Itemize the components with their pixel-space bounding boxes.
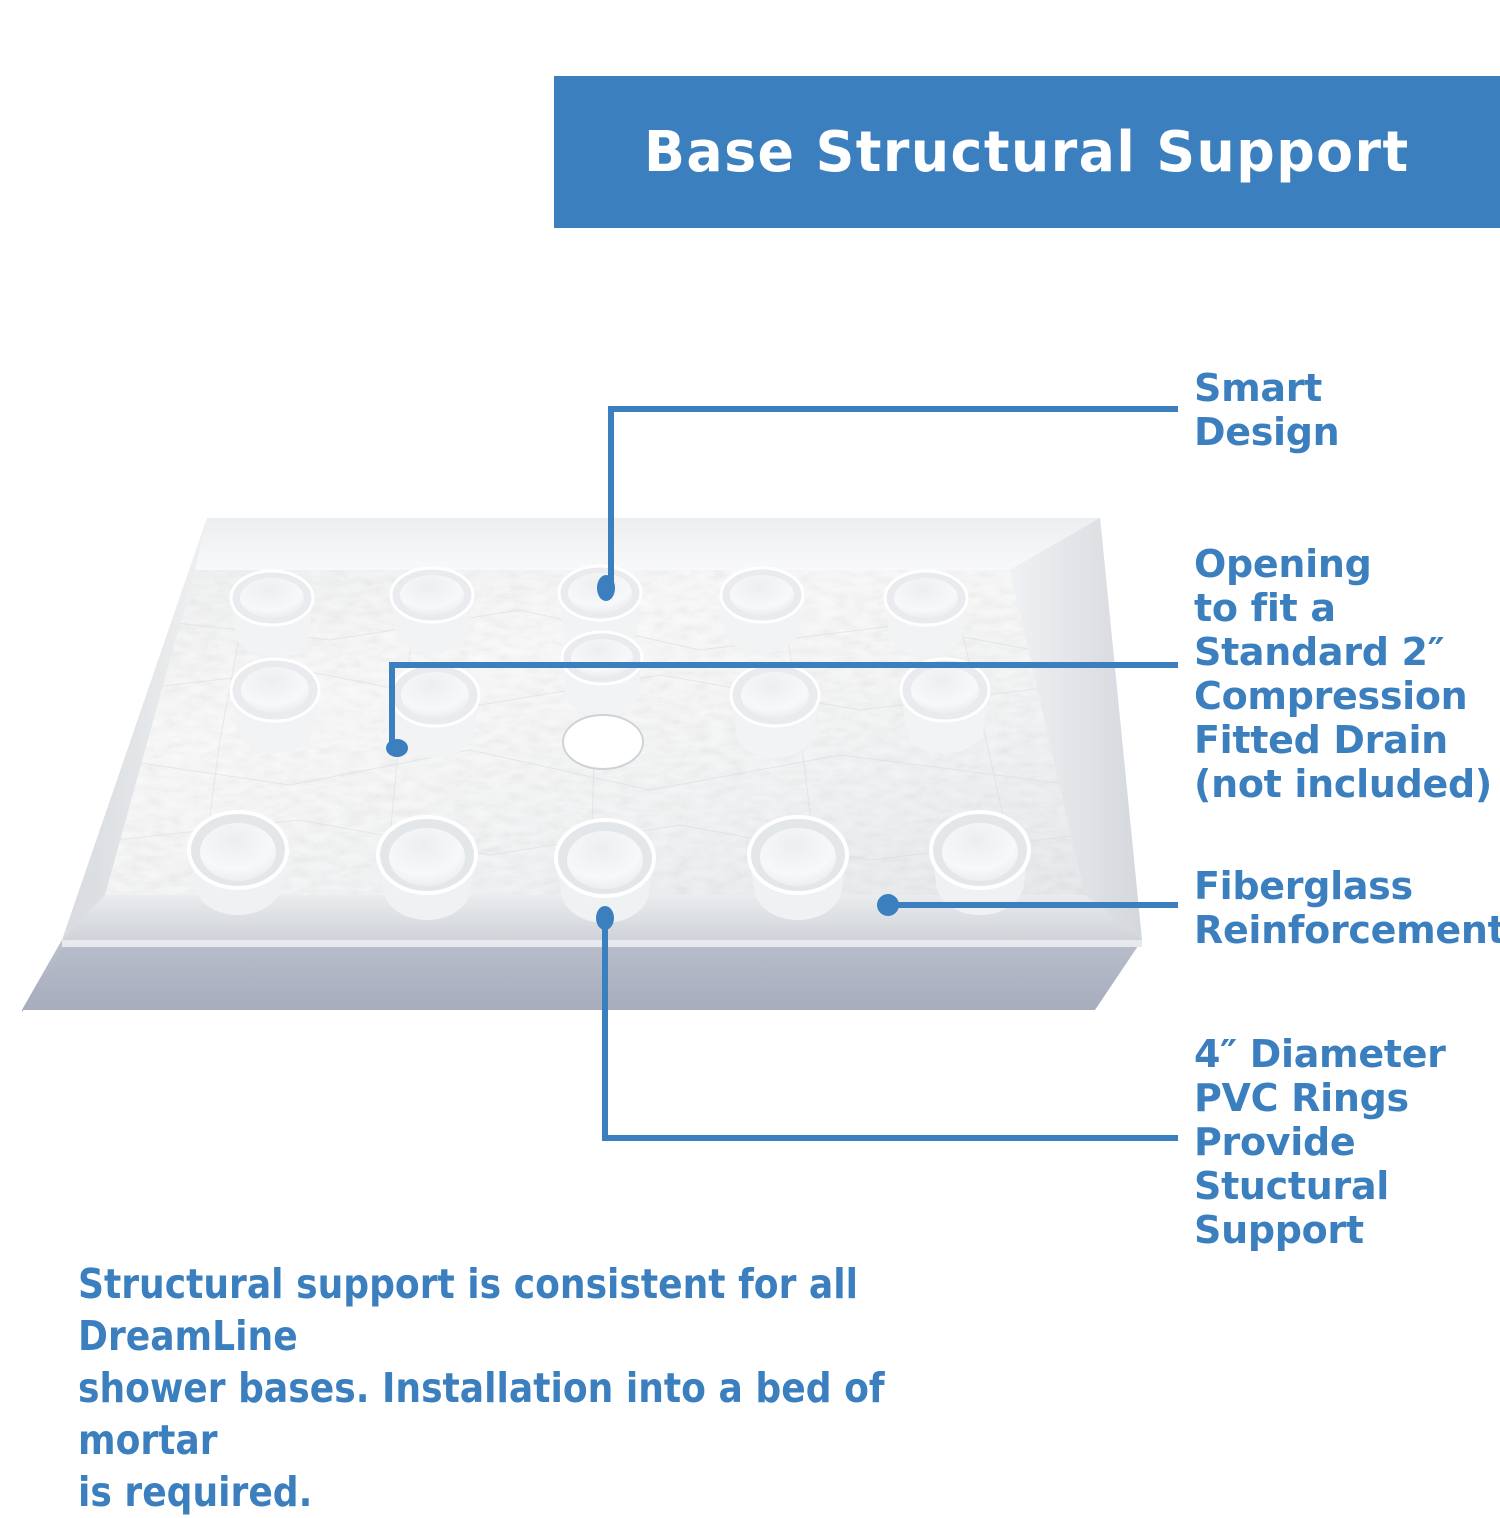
leader-dot-fiberglass — [877, 894, 899, 916]
page-title: Base Structural Support — [644, 120, 1410, 185]
callout-label-pvc-rings: 4″ Diameter PVC Rings Provide Stuctural … — [1194, 1032, 1446, 1252]
title-banner: Base Structural Support — [554, 76, 1500, 228]
callout-label-drain-opening: Opening to fit a Standard 2″ Compression… — [1194, 542, 1492, 806]
footer-note: Structural support is consistent for all… — [78, 1258, 896, 1518]
leader-line-smart-design — [611, 409, 1178, 588]
infographic-canvas: Base Structural Support Smart Design Ope… — [0, 0, 1500, 1500]
leader-dot-pvc-rings — [596, 906, 614, 930]
leader-dot-smart-design — [597, 575, 615, 601]
leader-line-pvc-rings — [605, 922, 1178, 1138]
callout-label-smart-design: Smart Design — [1194, 366, 1339, 454]
leader-dot-drain-opening — [386, 739, 408, 757]
leader-line-drain-opening — [392, 665, 1178, 748]
callout-label-fiberglass: Fiberglass Reinforcement — [1194, 864, 1500, 952]
